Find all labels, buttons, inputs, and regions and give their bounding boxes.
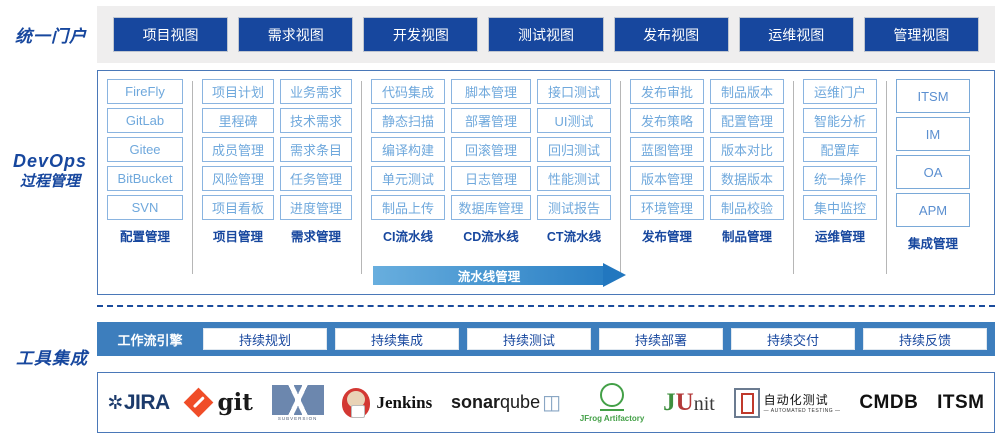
section-divider-dashed <box>97 305 995 307</box>
itsm-logo: ITSM <box>937 380 984 426</box>
column-group-config: FireFly GitLab Gitee BitBucket SVN 配置管理 <box>104 79 186 294</box>
sonarqube-logo-text-light: qube <box>500 392 540 413</box>
cell-deploy-management[interactable]: 部署管理 <box>451 108 531 133</box>
cell-task-management[interactable]: 任务管理 <box>280 166 352 191</box>
cell-performance-test[interactable]: 性能测试 <box>537 166 611 191</box>
cell-test-report[interactable]: 测试报告 <box>537 195 611 220</box>
cell-bitbucket[interactable]: BitBucket <box>107 166 183 191</box>
jira-mark-icon: ✲ <box>107 393 122 414</box>
git-logo: git <box>188 380 252 426</box>
column-divider-5 <box>886 81 887 274</box>
jenkins-butler-icon <box>342 388 370 418</box>
workflow-stage-continuous-feedback[interactable]: 持续反馈 <box>863 328 987 350</box>
row-label-devops-en: DevOps <box>4 150 96 173</box>
cell-business-requirement[interactable]: 业务需求 <box>280 79 352 104</box>
row-label-devops-process: DevOps 过程管理 <box>4 150 96 191</box>
jfrog-bar-icon <box>600 409 624 411</box>
pipeline-arrow-label: 流水线管理 <box>373 266 605 285</box>
column-footer-ci-pipeline: CI流水线 <box>371 226 445 245</box>
cell-im[interactable]: IM <box>896 117 970 151</box>
workflow-engine-label: 工作流引擎 <box>101 330 199 349</box>
workflow-stage-continuous-testing[interactable]: 持续测试 <box>467 328 591 350</box>
column-footer-integration-management: 集成管理 <box>896 233 970 252</box>
row-label-devops-cn: 过程管理 <box>4 173 96 192</box>
column-operations-management: 运维门户 智能分析 配置库 统一操作 集中监控 运维管理 <box>803 79 877 294</box>
git-logo-text: git <box>217 389 252 416</box>
portal-button-development-view[interactable]: 开发视图 <box>363 17 478 52</box>
cell-static-scan[interactable]: 静态扫描 <box>371 108 445 133</box>
cell-intelligent-analysis[interactable]: 智能分析 <box>803 108 877 133</box>
portal-button-project-view[interactable]: 项目视图 <box>113 17 228 52</box>
column-footer-config-management: 配置管理 <box>107 226 183 245</box>
column-ci-pipeline: 代码集成 静态扫描 编译构建 单元测试 制品上传 CI流水线 <box>371 79 445 294</box>
cell-blueprint-management[interactable]: 蓝图管理 <box>630 137 704 162</box>
itsm-logo-text: ITSM <box>937 392 984 414</box>
cell-environment-management[interactable]: 环境管理 <box>630 195 704 220</box>
junit-nit-letters: nit <box>694 393 715 415</box>
cell-technical-requirement[interactable]: 技术需求 <box>280 108 352 133</box>
column-footer-release-management: 发布管理 <box>630 226 704 245</box>
cell-progress-management[interactable]: 进度管理 <box>280 195 352 220</box>
sonarqube-wave-icon: ◫ <box>542 390 561 415</box>
cell-project-board[interactable]: 项目看板 <box>202 195 274 220</box>
cell-svn[interactable]: SVN <box>107 195 183 220</box>
cell-script-management[interactable]: 脚本管理 <box>451 79 531 104</box>
cell-release-approval[interactable]: 发布审批 <box>630 79 704 104</box>
cell-oa[interactable]: OA <box>896 155 970 189</box>
column-footer-operations-management: 运维管理 <box>803 226 877 245</box>
jenkins-logo-text: Jenkins <box>376 393 432 413</box>
column-group-integration: ITSM IM OA APM 集成管理 <box>893 79 973 294</box>
cell-artifact-version[interactable]: 制品版本 <box>710 79 784 104</box>
column-release-management: 发布审批 发布策略 蓝图管理 版本管理 环境管理 发布管理 <box>630 79 704 294</box>
cell-code-integration[interactable]: 代码集成 <box>371 79 445 104</box>
devops-process-panel: FireFly GitLab Gitee BitBucket SVN 配置管理 … <box>97 70 995 295</box>
column-footer-cd-pipeline: CD流水线 <box>451 226 531 245</box>
cell-database-management[interactable]: 数据库管理 <box>451 195 531 220</box>
portal-button-requirement-view[interactable]: 需求视图 <box>238 17 353 52</box>
cell-version-management[interactable]: 版本管理 <box>630 166 704 191</box>
pipeline-arrow-head-icon <box>603 263 626 287</box>
portal-button-operations-view[interactable]: 运维视图 <box>739 17 854 52</box>
sonarqube-logo: sonarqube ◫ <box>451 380 561 426</box>
column-integration-management: ITSM IM OA APM 集成管理 <box>896 79 970 294</box>
cell-regression-test[interactable]: 回归测试 <box>537 137 611 162</box>
cell-risk-management[interactable]: 风险管理 <box>202 166 274 191</box>
cell-gitee[interactable]: Gitee <box>107 137 183 162</box>
column-group-operations: 运维门户 智能分析 配置库 统一操作 集中监控 运维管理 <box>800 79 880 294</box>
column-ct-pipeline: 接口测试 UI测试 回归测试 性能测试 测试报告 CT流水线 <box>537 79 611 294</box>
column-divider-2 <box>361 81 362 274</box>
unified-portal-band: 项目视图 需求视图 开发视图 测试视图 发布视图 运维视图 管理视图 <box>97 6 995 63</box>
column-footer-artifact-management: 制品管理 <box>710 226 784 245</box>
cell-unit-test[interactable]: 单元测试 <box>371 166 445 191</box>
cell-gitlab[interactable]: GitLab <box>107 108 183 133</box>
automated-testing-icon <box>734 388 760 418</box>
cell-ops-portal[interactable]: 运维门户 <box>803 79 877 104</box>
column-divider-4 <box>793 81 794 274</box>
column-group-release-artifact: 发布审批 发布策略 蓝图管理 版本管理 环境管理 发布管理 制品版本 配置管理 … <box>627 79 787 294</box>
junit-u-letter: U <box>676 389 694 416</box>
cell-compile-build[interactable]: 编译构建 <box>371 137 445 162</box>
cmdb-logo-text: CMDB <box>859 392 918 414</box>
cell-apm[interactable]: APM <box>896 193 970 227</box>
column-footer-project-management: 项目管理 <box>202 226 274 245</box>
jfrog-logo-text: JFrog Artifactory <box>580 414 645 423</box>
sonarqube-logo-text-bold: sonar <box>451 392 500 413</box>
column-config-management: FireFly GitLab Gitee BitBucket SVN 配置管理 <box>107 79 183 294</box>
cell-project-plan[interactable]: 项目计划 <box>202 79 274 104</box>
column-cd-pipeline: 脚本管理 部署管理 回滚管理 日志管理 数据库管理 CD流水线 <box>451 79 531 294</box>
workflow-stage-continuous-planning[interactable]: 持续规划 <box>203 328 327 350</box>
workflow-engine-band: 工作流引擎 持续规划 持续集成 持续测试 持续部署 持续交付 持续反馈 <box>97 322 995 356</box>
git-diamond-icon <box>184 388 214 418</box>
automated-testing-logo-sub: — AUTOMATED TESTING — <box>764 408 841 414</box>
cell-milestone[interactable]: 里程碑 <box>202 108 274 133</box>
jfrog-ring-icon <box>600 383 624 407</box>
column-group-project-requirement: 项目计划 里程碑 成员管理 风险管理 项目看板 项目管理 业务需求 技术需求 需… <box>199 79 355 294</box>
row-label-unified-portal: 统一门户 <box>8 26 94 47</box>
jenkins-logo: Jenkins <box>342 380 432 426</box>
portal-button-test-view[interactable]: 测试视图 <box>488 17 603 52</box>
cell-unified-operation[interactable]: 统一操作 <box>803 166 877 191</box>
cell-centralized-monitoring[interactable]: 集中监控 <box>803 195 877 220</box>
junit-j-letter: J <box>663 389 676 416</box>
cell-artifact-upload[interactable]: 制品上传 <box>371 195 445 220</box>
cell-version-comparison[interactable]: 版本对比 <box>710 137 784 162</box>
subversion-logo-text: SUBVERSION <box>278 416 318 421</box>
cell-log-management[interactable]: 日志管理 <box>451 166 531 191</box>
cell-ui-test[interactable]: UI测试 <box>537 108 611 133</box>
workflow-stage-continuous-integration[interactable]: 持续集成 <box>335 328 459 350</box>
automated-testing-logo: 自动化测试 — AUTOMATED TESTING — <box>734 380 841 426</box>
portal-button-management-view[interactable]: 管理视图 <box>864 17 979 52</box>
pipeline-management-arrow: 流水线管理 <box>373 266 626 285</box>
column-divider-1 <box>192 81 193 274</box>
cell-requirement-item[interactable]: 需求条目 <box>280 137 352 162</box>
cell-release-strategy[interactable]: 发布策略 <box>630 108 704 133</box>
jira-logo: ✲JIRA <box>107 380 169 426</box>
cell-configuration-management[interactable]: 配置管理 <box>710 108 784 133</box>
cell-interface-test[interactable]: 接口测试 <box>537 79 611 104</box>
cell-artifact-verification[interactable]: 制品校验 <box>710 195 784 220</box>
column-project-management: 项目计划 里程碑 成员管理 风险管理 项目看板 项目管理 <box>202 79 274 294</box>
tool-logo-strip: ✲JIRA git SUBVERSION Jenkins sonarqube ◫… <box>97 372 995 433</box>
automated-testing-logo-text: 自动化测试 <box>764 391 841 408</box>
jfrog-artifactory-logo: JFrog Artifactory <box>580 380 645 426</box>
workflow-stage-continuous-delivery[interactable]: 持续交付 <box>731 328 855 350</box>
subversion-logo: SUBVERSION <box>272 380 324 426</box>
row-label-tool-integration: 工具集成 <box>8 348 96 369</box>
cell-config-repository[interactable]: 配置库 <box>803 137 877 162</box>
cell-member-management[interactable]: 成员管理 <box>202 137 274 162</box>
column-requirement-management: 业务需求 技术需求 需求条目 任务管理 进度管理 需求管理 <box>280 79 352 294</box>
cell-firefly[interactable]: FireFly <box>107 79 183 104</box>
cmdb-logo: CMDB <box>859 380 918 426</box>
workflow-stage-continuous-deployment[interactable]: 持续部署 <box>599 328 723 350</box>
portal-button-release-view[interactable]: 发布视图 <box>614 17 729 52</box>
cell-rollback-management[interactable]: 回滚管理 <box>451 137 531 162</box>
column-divider-3 <box>620 81 621 274</box>
subversion-glyph-icon <box>272 385 324 415</box>
column-group-pipelines: 代码集成 静态扫描 编译构建 单元测试 制品上传 CI流水线 脚本管理 部署管理… <box>368 79 614 294</box>
jira-logo-text: JIRA <box>124 391 170 414</box>
column-footer-ct-pipeline: CT流水线 <box>537 226 611 245</box>
cell-itsm[interactable]: ITSM <box>896 79 970 113</box>
column-footer-requirement-management: 需求管理 <box>280 226 352 245</box>
column-artifact-management: 制品版本 配置管理 版本对比 数据版本 制品校验 制品管理 <box>710 79 784 294</box>
cell-data-version[interactable]: 数据版本 <box>710 166 784 191</box>
junit-logo: JUnit <box>663 380 715 426</box>
